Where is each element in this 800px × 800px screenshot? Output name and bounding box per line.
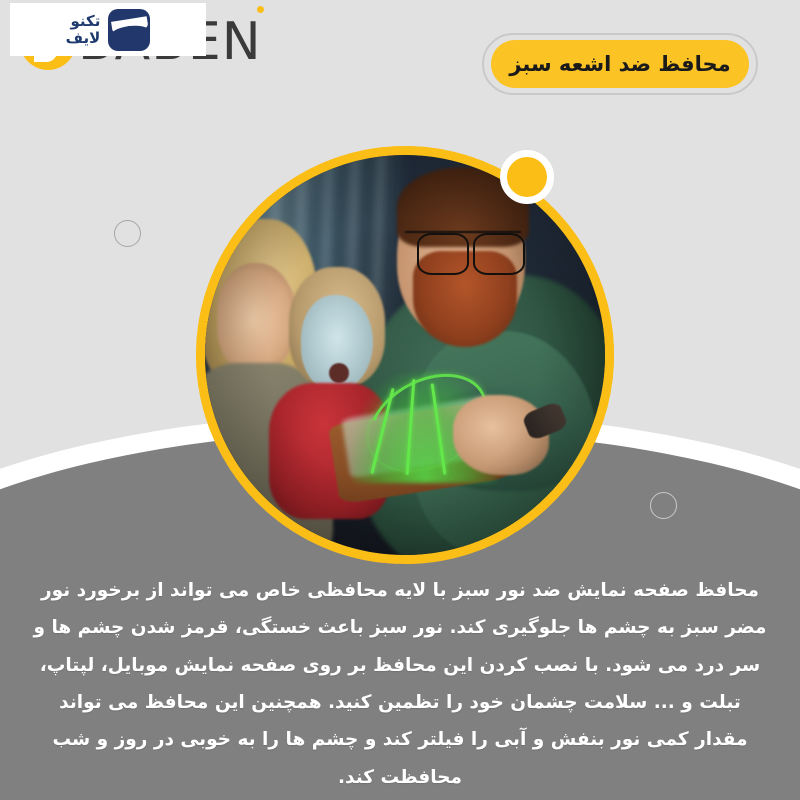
family-using-tablet-photo (205, 155, 605, 555)
store-logo-line1: تکنو (66, 13, 101, 30)
product-banner: BABEN (0, 0, 800, 800)
photo-vignette (205, 155, 605, 555)
product-description: محافظ صفحه نمایش ضد نور سبز با لایه محاف… (30, 572, 770, 796)
store-logo-text: تکنو لایف (66, 13, 101, 47)
outline-circle-icon-left (114, 220, 141, 247)
store-logo: تکنو لایف (10, 3, 206, 56)
outline-circle-icon-right (650, 492, 677, 519)
ring-marker-dot-icon (500, 150, 554, 204)
brand-dot-icon (257, 6, 264, 13)
store-logo-line2: لایف (66, 30, 101, 47)
hero-photo-circle (196, 146, 614, 564)
technolife-swoosh-icon (108, 9, 150, 51)
feature-badge: محافظ ضد اشعه سبز (491, 40, 749, 88)
feature-badge-outline: محافظ ضد اشعه سبز (482, 33, 758, 95)
